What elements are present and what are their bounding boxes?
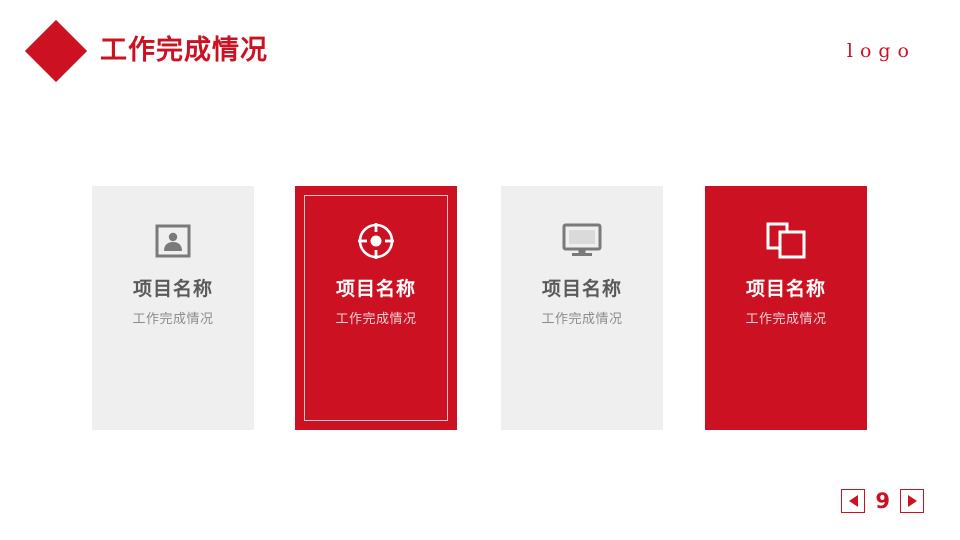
card-item[interactable]: 项目名称 工作完成情况 <box>705 186 867 430</box>
slide: 工作完成情况 logo 项目名称 工作完成情况 <box>0 0 960 540</box>
card-subtitle: 工作完成情况 <box>705 310 867 330</box>
user-portrait-icon <box>92 218 254 264</box>
diamond-icon <box>25 20 87 82</box>
page-number: 9 <box>875 489 890 513</box>
card-title: 项目名称 <box>295 276 457 302</box>
logo: logo <box>847 40 916 62</box>
monitor-icon <box>501 218 663 264</box>
prev-arrow-icon[interactable] <box>841 489 865 513</box>
footer-navigation: 9 <box>841 488 924 514</box>
card-item[interactable]: 项目名称 工作完成情况 <box>295 186 457 430</box>
card-title: 项目名称 <box>705 276 867 302</box>
card-item[interactable]: 项目名称 工作完成情况 <box>501 186 663 430</box>
card-title: 项目名称 <box>92 276 254 302</box>
card-subtitle: 工作完成情况 <box>295 310 457 330</box>
next-arrow-icon[interactable] <box>900 489 924 513</box>
slide-header: 工作完成情况 logo <box>0 0 960 100</box>
card-grid: 项目名称 工作完成情况 项目名称 工作完成情况 <box>92 186 868 430</box>
page-title: 工作完成情况 <box>100 33 268 69</box>
card-subtitle: 工作完成情况 <box>92 310 254 330</box>
copy-layers-icon <box>705 218 867 264</box>
card-subtitle: 工作完成情况 <box>501 310 663 330</box>
card-item[interactable]: 项目名称 工作完成情况 <box>92 186 254 430</box>
card-title: 项目名称 <box>501 276 663 302</box>
target-crosshair-icon <box>295 218 457 264</box>
